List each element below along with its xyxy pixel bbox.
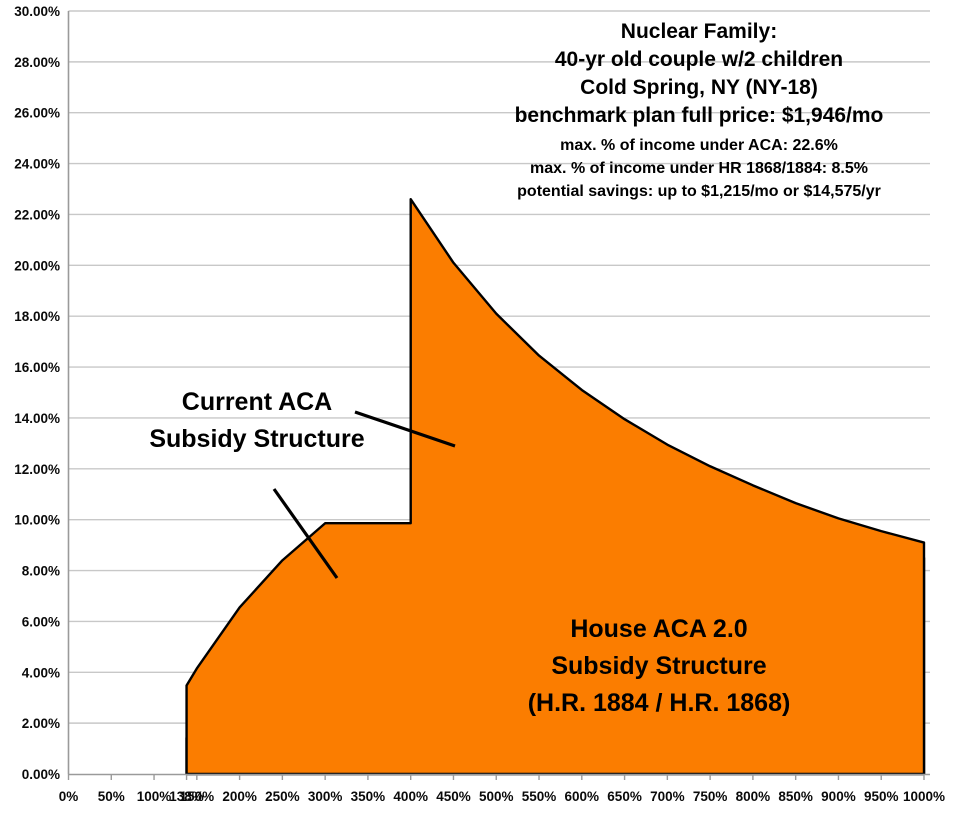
info-line: Cold Spring, NY (NY-18)	[580, 76, 818, 99]
y-tick-label: 26.00%	[14, 106, 60, 121]
x-tick-label: 300%	[308, 789, 343, 804]
x-tick-label: 250%	[265, 789, 300, 804]
x-tick-label: 850%	[778, 789, 813, 804]
y-tick-label: 14.00%	[14, 411, 60, 426]
x-tick-label: 950%	[864, 789, 899, 804]
x-tick-label: 100%	[137, 789, 172, 804]
y-tick-label: 22.00%	[14, 207, 60, 222]
x-tick-label: 550%	[522, 789, 557, 804]
info-line: max. % of income under HR 1868/1884: 8.5…	[530, 160, 868, 177]
y-tick-label: 12.00%	[14, 462, 60, 477]
x-tick-label: 400%	[393, 789, 428, 804]
house-label-line3: (H.R. 1884 / H.R. 1868)	[528, 689, 791, 717]
x-tick-label: 700%	[650, 789, 685, 804]
y-tick-label: 6.00%	[22, 614, 60, 629]
y-tick-label: 16.00%	[14, 360, 60, 375]
x-tick-label: 600%	[565, 789, 600, 804]
aca-label-line1: Current ACA	[182, 388, 332, 416]
x-tick-label: 350%	[351, 789, 386, 804]
info-line: benchmark plan full price: $1,946/mo	[515, 104, 884, 127]
x-tick-label: 750%	[693, 789, 728, 804]
x-tick-label: 500%	[479, 789, 514, 804]
x-axis-ticks	[69, 774, 925, 780]
aca-label-line2: Subsidy Structure	[149, 425, 364, 453]
y-tick-label: 30.00%	[14, 4, 60, 19]
x-axis-tick-labels: 0%50%100%138%150%200%250%300%350%400%450…	[59, 789, 945, 804]
house-label-line1: House ACA 2.0	[570, 615, 747, 643]
y-tick-label: 24.00%	[14, 157, 60, 172]
y-tick-label: 8.00%	[22, 564, 60, 579]
info-line: potential savings: up to $1,215/mo or $1…	[517, 183, 881, 200]
y-tick-label: 10.00%	[14, 513, 60, 528]
chart-page: 0.00%2.00%4.00%6.00%8.00%10.00%12.00%14.…	[0, 0, 954, 816]
x-tick-label: 0%	[59, 789, 79, 804]
x-tick-label: 900%	[821, 789, 856, 804]
y-tick-label: 2.00%	[22, 716, 60, 731]
y-tick-label: 18.00%	[14, 309, 60, 324]
y-tick-label: 4.00%	[22, 665, 60, 680]
x-tick-label: 50%	[98, 789, 125, 804]
x-tick-label: 150%	[180, 789, 215, 804]
y-tick-label: 0.00%	[22, 767, 60, 782]
x-tick-label: 800%	[736, 789, 771, 804]
x-tick-label: 200%	[222, 789, 257, 804]
area-chart: 0.00%2.00%4.00%6.00%8.00%10.00%12.00%14.…	[0, 0, 954, 816]
house-label-line2: Subsidy Structure	[551, 652, 766, 680]
info-line: max. % of income under ACA: 22.6%	[560, 137, 838, 154]
x-tick-label: 1000%	[903, 789, 945, 804]
info-line: 40-yr old couple w/2 children	[555, 48, 843, 71]
y-tick-label: 20.00%	[14, 258, 60, 273]
y-tick-label: 28.00%	[14, 55, 60, 70]
info-line: Nuclear Family:	[621, 20, 777, 43]
x-tick-label: 450%	[436, 789, 471, 804]
x-tick-label: 650%	[607, 789, 642, 804]
